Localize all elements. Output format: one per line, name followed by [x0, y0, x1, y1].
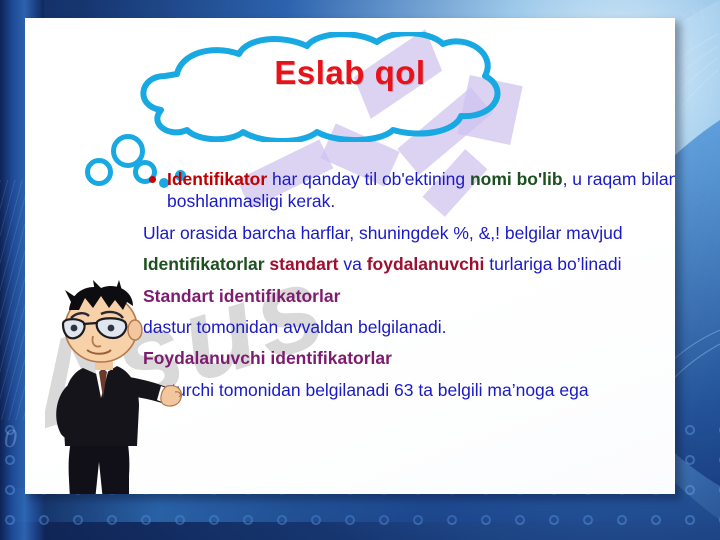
text-run: dastur tomonidan avvaldan belgilanadi. [143, 317, 447, 337]
text-run: foydalanuvchi [367, 254, 485, 274]
cartoon-presenter [43, 280, 183, 494]
text-run: standart [269, 254, 338, 274]
body-text: Identifikator har qanday til ob'ektining… [143, 168, 675, 407]
body-paragraph: Identifikatorlar standart va foydalanuvc… [143, 253, 675, 275]
body-paragraph: Standart identifikatorlar [143, 285, 675, 307]
body-paragraph: dasturchi tomonidan belgilanadi 63 ta be… [143, 379, 675, 401]
presentation-slide: 000 0 321 Asus Eslab qol Identifikator h… [0, 0, 720, 540]
text-run: Identifikator [167, 169, 272, 189]
text-run: va [338, 254, 366, 274]
text-run: nomi bo'lib [470, 169, 563, 189]
body-paragraph: Identifikator har qanday til ob'ektining… [143, 168, 675, 213]
body-paragraph: Foydalanuvchi identifikatorlar [143, 347, 675, 369]
bullet-icon [149, 176, 156, 183]
slide-title: Eslab qol [25, 54, 675, 92]
text-run: har qanday til ob'ektining [272, 169, 470, 189]
thought-bubble-icon [85, 158, 113, 186]
text-run: dasturchi tomonidan belgilanadi 63 ta be… [143, 380, 589, 400]
text-run: Ular orasida barcha harflar, shuningdek … [143, 223, 623, 243]
body-paragraph: Ular orasida barcha harflar, shuningdek … [143, 222, 675, 244]
text-run: turlariga bo’linadi [484, 254, 621, 274]
content-panel: Asus Eslab qol Identifikator har qanday … [25, 18, 675, 494]
body-paragraph: dastur tomonidan avvaldan belgilanadi. [143, 316, 675, 338]
background-number-0: 0 [4, 424, 17, 454]
text-run: Identifikatorlar [143, 254, 269, 274]
